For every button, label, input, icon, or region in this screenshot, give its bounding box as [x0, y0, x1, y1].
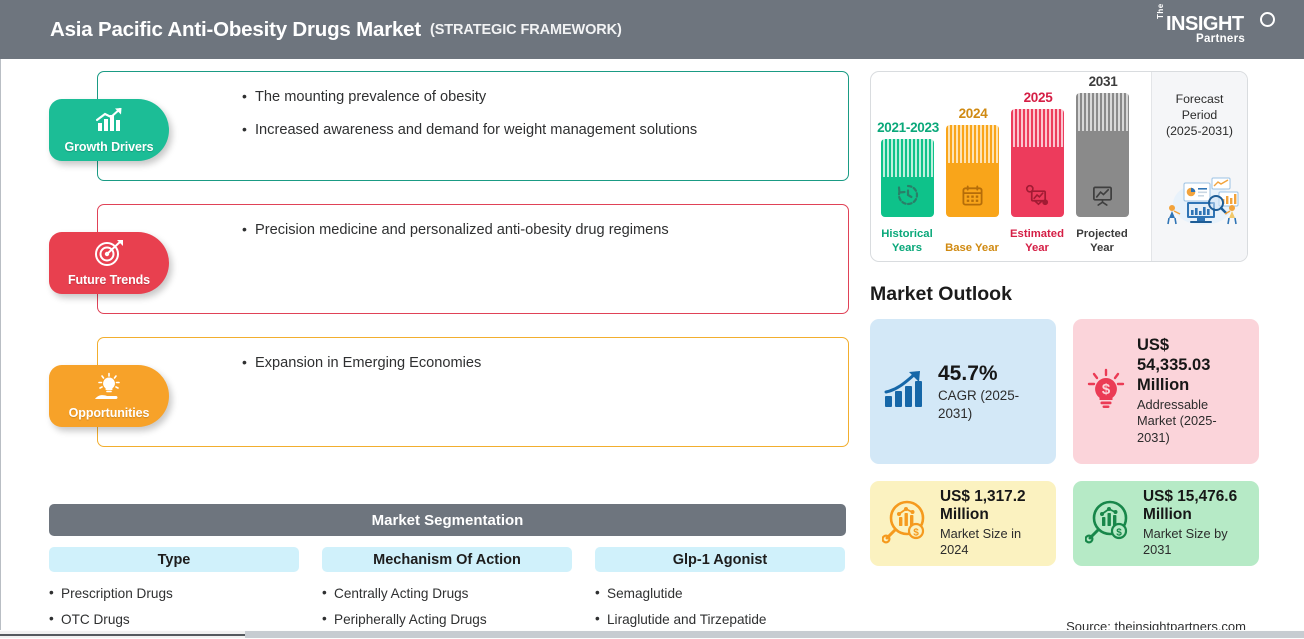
svg-text:$: $ [1116, 528, 1122, 539]
bar-caption: Historical Years [870, 228, 944, 256]
bar-year-label: 2031 [1063, 74, 1143, 89]
timeline-bar-estimated [1011, 109, 1064, 217]
bar-caption: Base Year [935, 242, 1009, 256]
outlook-value: US$ 15,476.6 Million [1143, 488, 1247, 525]
target-dart-icon [93, 239, 125, 272]
list-item: Increased awareness and demand for weigh… [242, 121, 830, 141]
list-item: Precision medicine and personalized anti… [242, 221, 830, 241]
driver-bullet-list: Precision medicine and personalized anti… [242, 221, 830, 241]
list-item: Semaglutide [595, 585, 845, 603]
scrollbar-thumb[interactable] [245, 631, 1304, 638]
segmentation-column-glp1-agonist: Glp-1 Agonist Semaglutide Liraglutide an… [595, 547, 845, 639]
column-items: Prescription Drugs OTC Drugs [49, 585, 299, 629]
timeline-bar-historical [881, 139, 934, 217]
svg-text:$: $ [913, 528, 919, 539]
list-item: Peripherally Acting Drugs [322, 611, 572, 629]
market-segmentation-section: Market Segmentation Type Prescription Dr… [49, 504, 846, 639]
column-items: Semaglutide Liraglutide and Tirzepatide [595, 585, 845, 629]
segmentation-column-mechanism-of-action: Mechanism Of Action Centrally Acting Dru… [322, 547, 572, 639]
outlook-value: US$ 1,317.2 Million [940, 488, 1044, 525]
outlook-card-market-size-2024[interactable]: $ US$ 1,317.2 Million Market Size in 202… [870, 481, 1056, 566]
column-header: Glp-1 Agonist [595, 547, 845, 572]
bar-stripe-top [1011, 109, 1064, 147]
badge-label: Opportunities [69, 406, 150, 420]
clock-history-icon [896, 183, 920, 207]
forecast-line-3: (2025-2031) [1166, 124, 1233, 140]
bar-caption: Estimated Year [1000, 228, 1074, 256]
badge-opportunities[interactable]: Opportunities [49, 365, 169, 427]
content-frame: The mounting prevalence of obesity Incre… [0, 59, 1304, 630]
list-item: Liraglutide and Tirzepatide [595, 611, 845, 629]
right-column: 2021-2023 Historical Years [870, 71, 1260, 566]
list-item: Centrally Acting Drugs [322, 585, 572, 603]
forecast-line-2: Period [1182, 108, 1218, 124]
outlook-card-cagr[interactable]: 45.7% CAGR (2025-2031) [870, 319, 1056, 464]
driver-bullet-list: The mounting prevalence of obesity Incre… [242, 88, 830, 140]
timeline-bars: 2021-2023 Historical Years [871, 72, 1151, 261]
column-header: Type [49, 547, 299, 572]
horizontal-scrollbar[interactable] [0, 630, 1304, 639]
driver-row-growth-drivers: The mounting prevalence of obesity Incre… [49, 71, 849, 181]
logo-circle-icon [1260, 12, 1275, 27]
outlook-label: Addressable Market (2025-2031) [1137, 397, 1247, 447]
insight-partners-logo: The INSIGHT Partners [1156, 9, 1276, 51]
svg-text:$: $ [1102, 381, 1111, 398]
bar-body [946, 163, 999, 217]
market-outlook-cards: 45.7% CAGR (2025-2031) [870, 319, 1260, 566]
page-header: Asia Pacific Anti-Obesity Drugs Market (… [0, 0, 1304, 59]
list-item: Expansion in Emerging Economies [242, 354, 830, 374]
bar-stripe-top [881, 139, 934, 177]
scrollbar-left-edge [0, 634, 245, 636]
outlook-label: CAGR (2025-2031) [938, 387, 1044, 422]
bar-chart-arrow-icon [92, 106, 126, 137]
bar-stripe-top [1076, 93, 1129, 131]
calendar-icon [961, 184, 984, 207]
segmentation-title: Market Segmentation [49, 504, 846, 536]
outlook-card-addressable-market[interactable]: $ US$ 54,335.03 Million Addressable Mark… [1073, 319, 1259, 464]
magnifier-chart-dollar-icon: $ [1085, 498, 1133, 549]
data-analysis-illustration [1157, 170, 1243, 233]
magnifier-chart-dollar-icon: $ [882, 498, 930, 549]
list-item: Prescription Drugs [49, 585, 299, 603]
bar-caption: Projected Year [1065, 228, 1139, 256]
forecast-timeline-panel: 2021-2023 Historical Years [870, 71, 1248, 262]
bar-body [881, 177, 934, 217]
presentation-chart-icon [1090, 184, 1115, 207]
outlook-card-text: US$ 54,335.03 Million Addressable Market… [1137, 336, 1247, 446]
outlook-card-text: US$ 15,476.6 Million Market Size by 2031 [1143, 488, 1247, 559]
driver-row-future-trends: Precision medicine and personalized anti… [49, 204, 849, 314]
timeline-bar-projected [1076, 93, 1129, 217]
forecast-period-panel: Forecast Period (2025-2031) [1151, 72, 1247, 261]
page-title: Asia Pacific Anti-Obesity Drugs Market [50, 18, 421, 42]
bar-stripe-top [946, 125, 999, 163]
bar-body [1076, 131, 1129, 217]
list-item: The mounting prevalence of obesity [242, 88, 830, 108]
timeline-bar-base [946, 125, 999, 217]
outlook-value: 45.7% [938, 361, 1044, 386]
bulb-dollar-icon: $ [1085, 367, 1127, 416]
driver-content-box: Expansion in Emerging Economies [97, 337, 849, 447]
bar-chart-arrow-icon [882, 368, 928, 415]
logo-the-text: The [1156, 3, 1165, 19]
bar-year-label: 2025 [998, 90, 1078, 105]
driver-content-box: The mounting prevalence of obesity Incre… [97, 71, 849, 181]
outlook-card-market-size-2031[interactable]: $ US$ 15,476.6 Million Market Size by 20… [1073, 481, 1259, 566]
segmentation-columns: Type Prescription Drugs OTC Drugs Mechan… [49, 547, 846, 639]
badge-future-trends[interactable]: Future Trends [49, 232, 169, 294]
outlook-label: Market Size by 2031 [1143, 526, 1247, 559]
forecast-line-1: Forecast [1176, 92, 1224, 108]
badge-growth-drivers[interactable]: Growth Drivers [49, 99, 169, 161]
list-item: OTC Drugs [49, 611, 299, 629]
outlook-label: Market Size in 2024 [940, 526, 1044, 559]
lightbulb-hand-icon [92, 372, 126, 407]
strategic-drivers-section: The mounting prevalence of obesity Incre… [49, 71, 849, 470]
bar-year-label: 2021-2023 [870, 120, 948, 135]
outlook-card-text: 45.7% CAGR (2025-2031) [938, 361, 1044, 422]
infographic-page: Asia Pacific Anti-Obesity Drugs Market (… [0, 0, 1304, 639]
driver-content-box: Precision medicine and personalized anti… [97, 204, 849, 314]
driver-bullet-list: Expansion in Emerging Economies [242, 354, 830, 374]
driver-row-opportunities: Expansion in Emerging Economies [49, 337, 849, 447]
badge-label: Growth Drivers [65, 140, 154, 154]
settings-chart-icon [1025, 184, 1050, 207]
page-subtitle: (STRATEGIC FRAMEWORK) [430, 22, 622, 38]
bar-year-label: 2024 [933, 106, 1013, 121]
outlook-value: US$ 54,335.03 Million [1137, 336, 1247, 395]
segmentation-column-type: Type Prescription Drugs OTC Drugs [49, 547, 299, 639]
badge-label: Future Trends [68, 273, 150, 287]
column-header: Mechanism Of Action [322, 547, 572, 572]
outlook-card-text: US$ 1,317.2 Million Market Size in 2024 [940, 488, 1044, 559]
logo-partners-text: Partners [1196, 33, 1245, 45]
bar-body [1011, 147, 1064, 217]
market-outlook-title: Market Outlook [870, 283, 1260, 306]
